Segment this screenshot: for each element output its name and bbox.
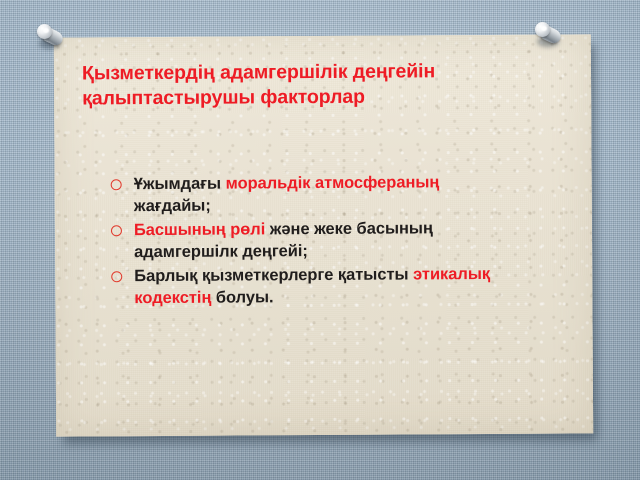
list-item-text: Барлық қызметкерлерге қатысты этикалық к… — [134, 265, 490, 307]
list-item: Басшының рөлі және жеке басының адамгерш… — [111, 218, 501, 264]
list-item: Ұжымдағы моральдік атмосфераның жағдайы; — [111, 172, 501, 218]
pushpin-highlight — [43, 28, 49, 33]
bullet-list: Ұжымдағы моральдік атмосфераның жағдайы;… — [111, 172, 502, 312]
circle-bullet-icon — [111, 225, 122, 236]
list-item-text: Ұжымдағы моральдік атмосфераның жағдайы; — [134, 173, 440, 215]
slide-content: Қызметкердің адамгершілік деңгейін қалып… — [54, 34, 593, 436]
pushpin-head — [535, 22, 550, 37]
list-item: Барлық қызметкерлерге қатысты этикалық к… — [111, 264, 501, 310]
page-title: Қызметкердің адамгершілік деңгейін қалып… — [80, 59, 542, 113]
pushpin-highlight — [541, 26, 547, 31]
circle-bullet-icon — [111, 271, 122, 282]
text-segment-highlight: моральдік атмосфераның — [226, 173, 440, 192]
pushpin-icon — [532, 20, 566, 54]
text-segment: Барлық қызметкерлерге қатысты — [134, 265, 413, 285]
text-segment-highlight: Басшының рөлі — [134, 220, 265, 239]
circle-bullet-icon — [111, 179, 122, 190]
text-segment: Ұжымдағы — [134, 175, 226, 194]
text-segment: болуы. — [211, 288, 273, 306]
list-item-text: Басшының рөлі және жеке басының адамгерш… — [134, 219, 433, 261]
text-segment: жағдайы; — [134, 197, 211, 215]
slide-canvas: Қызметкердің адамгершілік деңгейін қалып… — [0, 0, 640, 480]
pushpin-icon — [34, 22, 68, 56]
pushpin-head — [37, 24, 52, 39]
paper-sheet: Қызметкердің адамгершілік деңгейін қалып… — [54, 34, 593, 436]
